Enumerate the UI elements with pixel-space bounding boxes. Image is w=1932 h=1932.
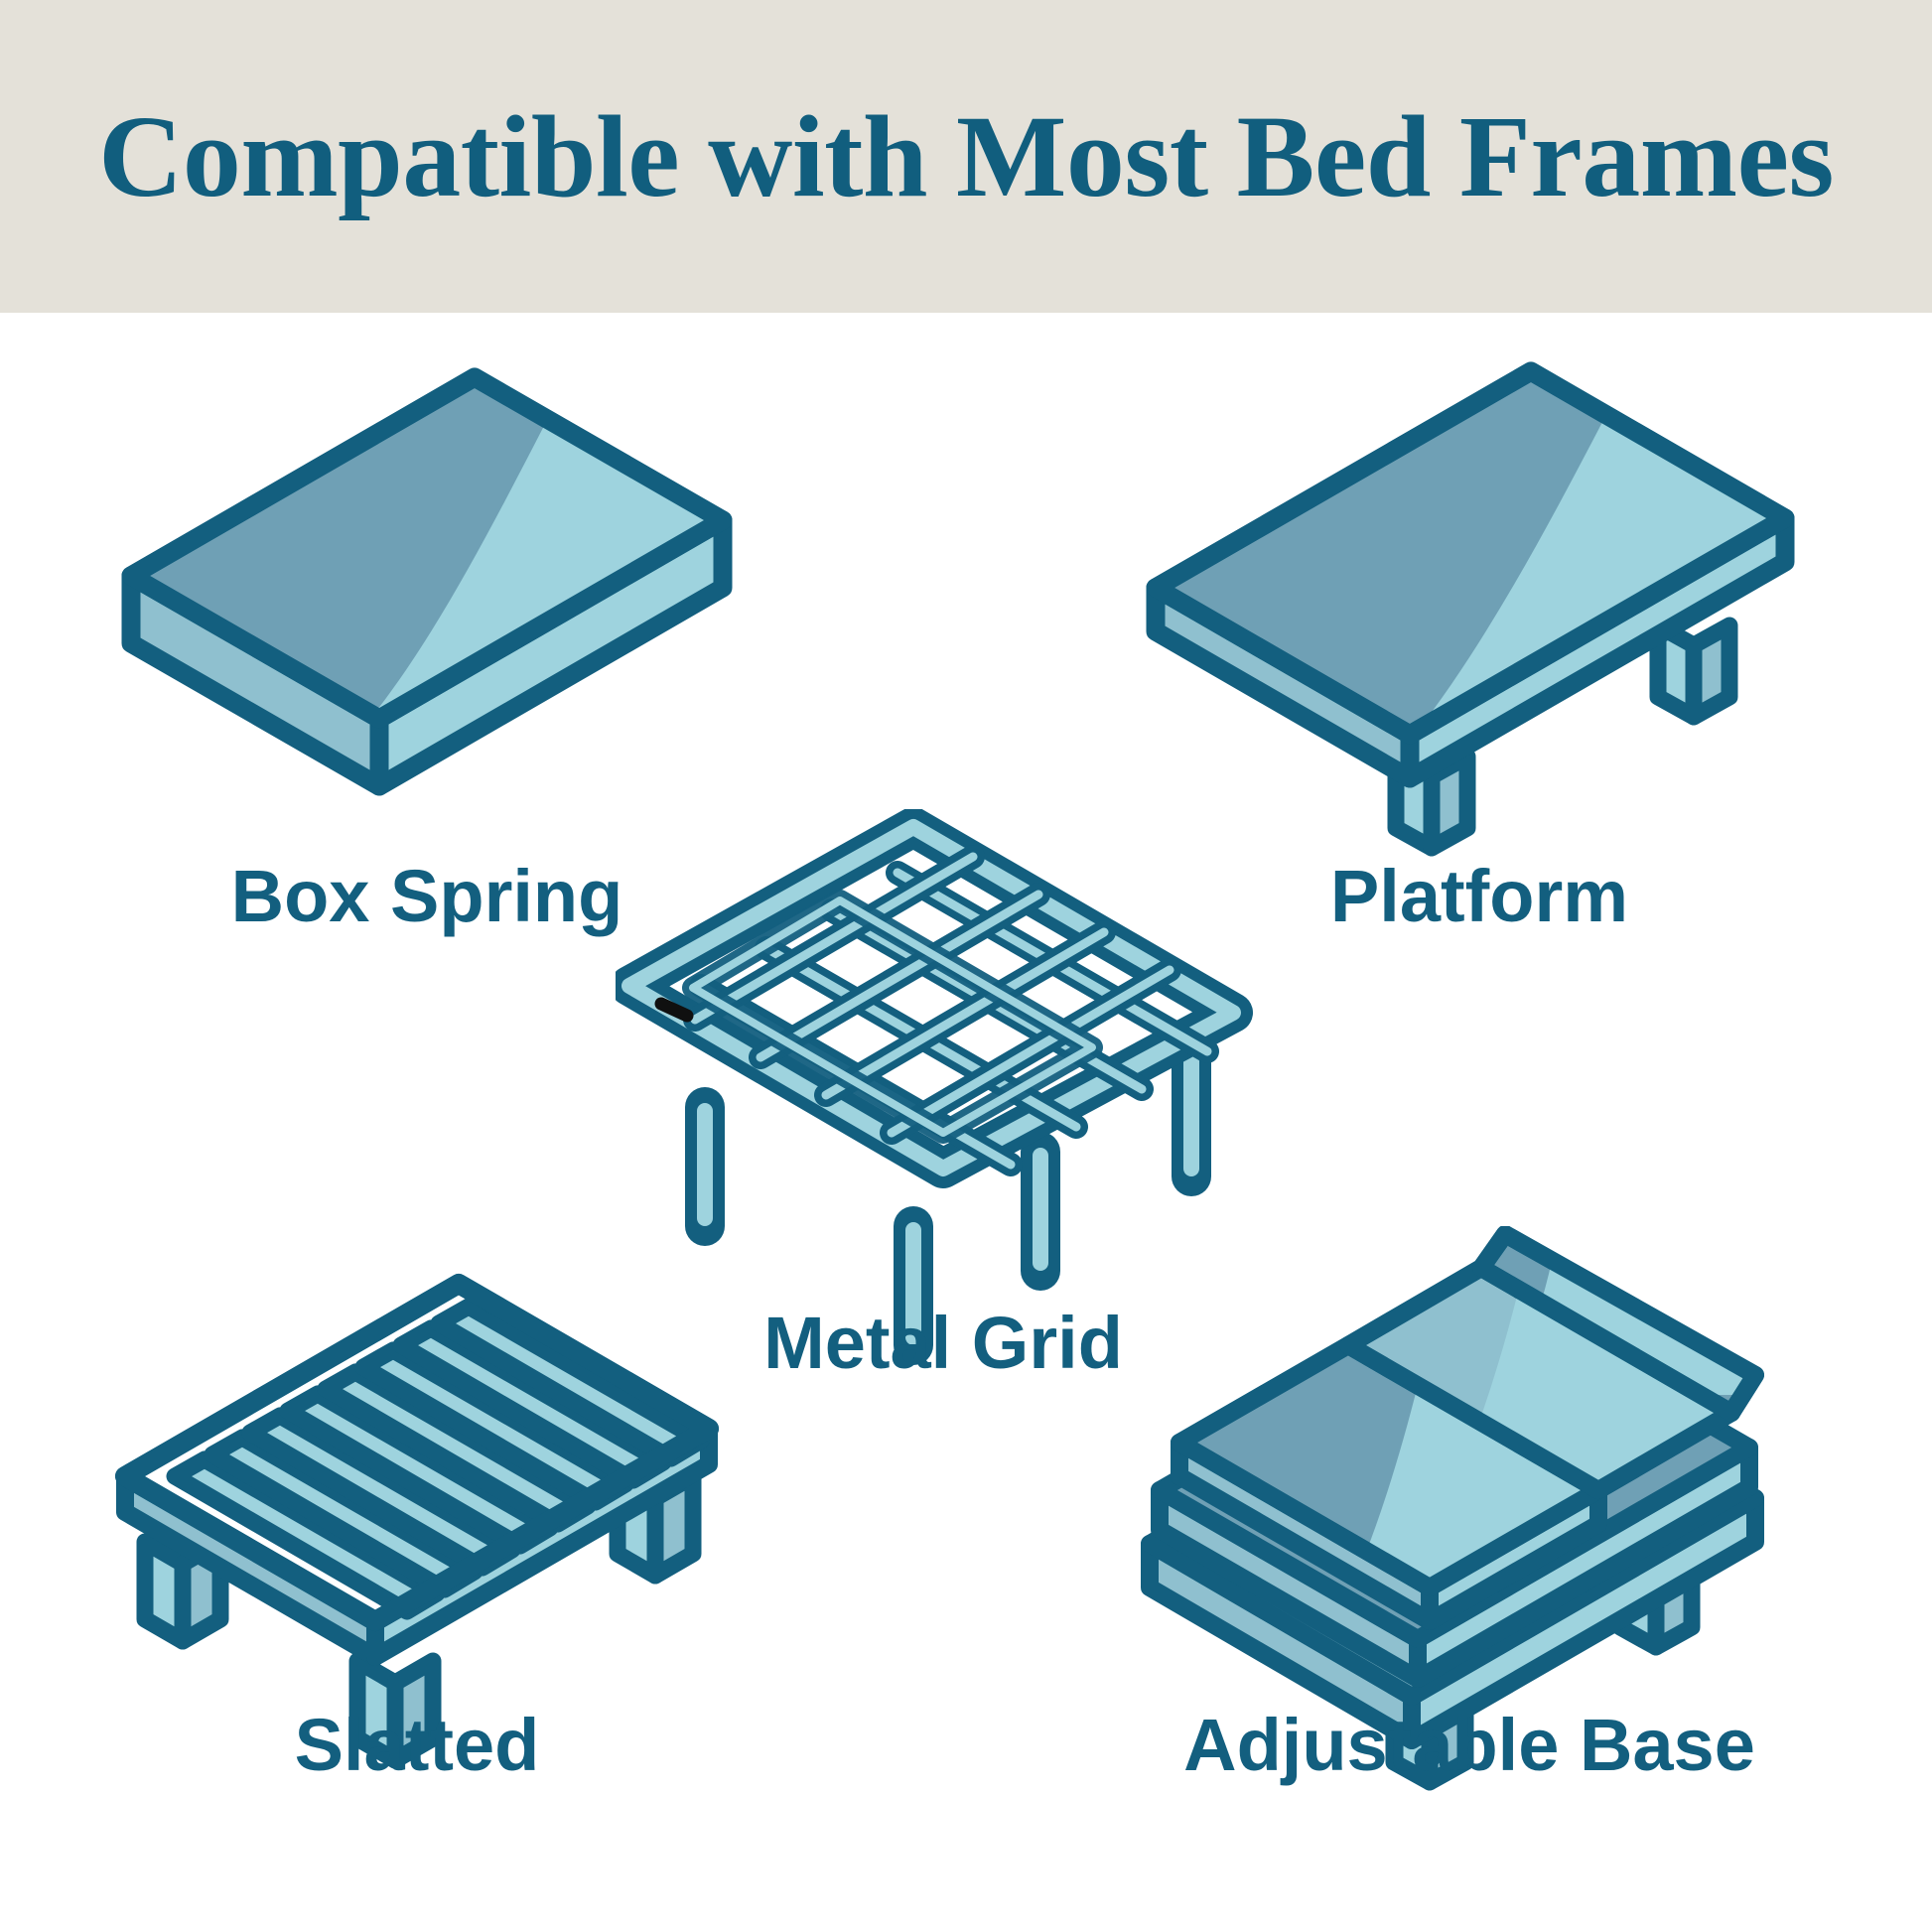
- header-band: Compatible with Most Bed Frames: [0, 0, 1932, 313]
- box-spring-icon: [119, 328, 735, 884]
- bed-frame-diagram: Box Spring Platform: [0, 313, 1932, 1932]
- platform-icon: [1142, 328, 1817, 884]
- page-title: Compatible with Most Bed Frames: [0, 0, 1932, 313]
- label-slatted: Slatted: [109, 1703, 725, 1787]
- label-adjustable-base: Adjustable Base: [1132, 1703, 1807, 1787]
